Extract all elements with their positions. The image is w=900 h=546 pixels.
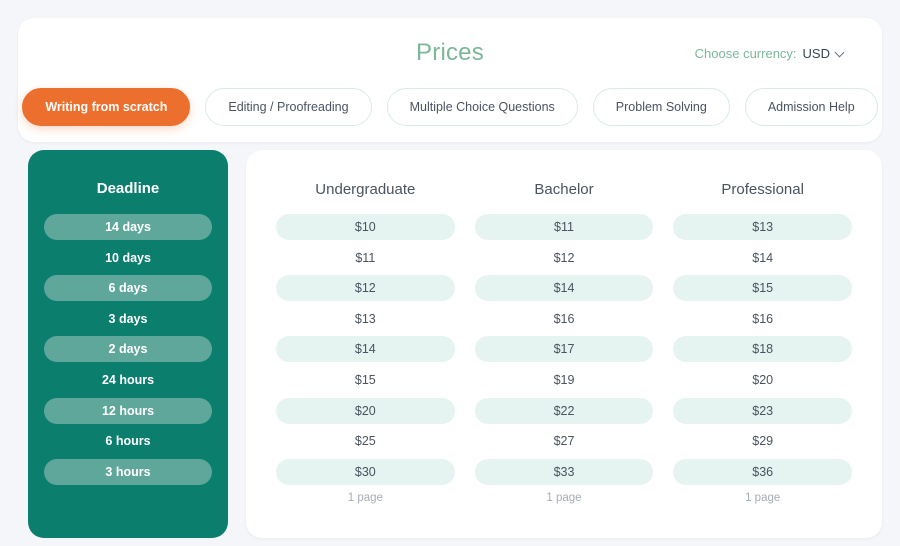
deadline-row[interactable]: 14 days [44, 214, 212, 240]
tab-problem-solving[interactable]: Problem Solving [593, 88, 730, 126]
price-cell[interactable]: $29 [673, 428, 852, 454]
tab-admission-help[interactable]: Admission Help [745, 88, 878, 126]
tab-writing-from-scratch[interactable]: Writing from scratch [22, 88, 190, 126]
price-table-card: Undergraduate$10$11$12$13$14$15$20$25$30… [246, 150, 882, 538]
price-cell[interactable]: $15 [276, 367, 455, 393]
price-cell[interactable]: $16 [475, 306, 654, 332]
price-cell[interactable]: $22 [475, 398, 654, 424]
deadline-title: Deadline [28, 180, 228, 197]
price-cell[interactable]: $12 [475, 245, 654, 271]
price-cell[interactable]: $11 [475, 214, 654, 240]
service-tabs: Writing from scratchEditing / Proofreadi… [18, 88, 882, 126]
tab-editing-proofreading[interactable]: Editing / Proofreading [205, 88, 371, 126]
price-column-footer: 1 page [276, 492, 455, 504]
deadline-panel: Deadline 14 days10 days6 days3 days2 day… [28, 150, 228, 538]
price-column-footer: 1 page [475, 492, 654, 504]
deadline-list: 14 days10 days6 days3 days2 days24 hours… [28, 214, 228, 485]
tab-multiple-choice-questions[interactable]: Multiple Choice Questions [387, 88, 578, 126]
deadline-row[interactable]: 6 hours [44, 428, 212, 454]
price-cell[interactable]: $30 [276, 459, 455, 485]
price-cell[interactable]: $14 [276, 336, 455, 362]
deadline-row[interactable]: 3 hours [44, 459, 212, 485]
price-cell[interactable]: $25 [276, 428, 455, 454]
deadline-row[interactable]: 10 days [44, 245, 212, 271]
price-cell[interactable]: $15 [673, 275, 852, 301]
deadline-row[interactable]: 6 days [44, 275, 212, 301]
deadline-row[interactable]: 2 days [44, 336, 212, 362]
currency-selector[interactable]: Choose currency: USD [695, 46, 845, 61]
price-cell[interactable]: $16 [673, 306, 852, 332]
price-cell[interactable]: $13 [673, 214, 852, 240]
deadline-row[interactable]: 12 hours [44, 398, 212, 424]
price-column-header: Bachelor [475, 181, 654, 198]
price-column-footer: 1 page [673, 492, 852, 504]
price-cell[interactable]: $20 [673, 367, 852, 393]
price-cell[interactable]: $27 [475, 428, 654, 454]
price-column-header: Professional [673, 181, 852, 198]
chevron-down-icon[interactable] [836, 48, 845, 57]
deadline-row[interactable]: 3 days [44, 306, 212, 332]
deadline-row[interactable]: 24 hours [44, 367, 212, 393]
price-cell[interactable]: $33 [475, 459, 654, 485]
price-cell[interactable]: $11 [276, 245, 455, 271]
currency-label: Choose currency: [695, 46, 797, 61]
header-card: Prices Choose currency: USD Writing from… [18, 18, 882, 142]
price-column-header: Undergraduate [276, 181, 455, 198]
price-column-professional: Professional$13$14$15$16$18$20$23$29$361… [663, 150, 862, 538]
price-column-bachelor: Bachelor$11$12$14$16$17$19$22$27$331 pag… [465, 150, 664, 538]
price-cell[interactable]: $14 [475, 275, 654, 301]
price-cell[interactable]: $12 [276, 275, 455, 301]
price-columns: Undergraduate$10$11$12$13$14$15$20$25$30… [246, 150, 882, 538]
price-cell[interactable]: $10 [276, 214, 455, 240]
price-cell[interactable]: $14 [673, 245, 852, 271]
price-cell[interactable]: $36 [673, 459, 852, 485]
price-cell[interactable]: $19 [475, 367, 654, 393]
currency-value: USD [803, 46, 830, 61]
price-cell[interactable]: $17 [475, 336, 654, 362]
price-cell[interactable]: $20 [276, 398, 455, 424]
price-cell[interactable]: $23 [673, 398, 852, 424]
price-cell[interactable]: $13 [276, 306, 455, 332]
price-cell[interactable]: $18 [673, 336, 852, 362]
price-column-undergraduate: Undergraduate$10$11$12$13$14$15$20$25$30… [266, 150, 465, 538]
